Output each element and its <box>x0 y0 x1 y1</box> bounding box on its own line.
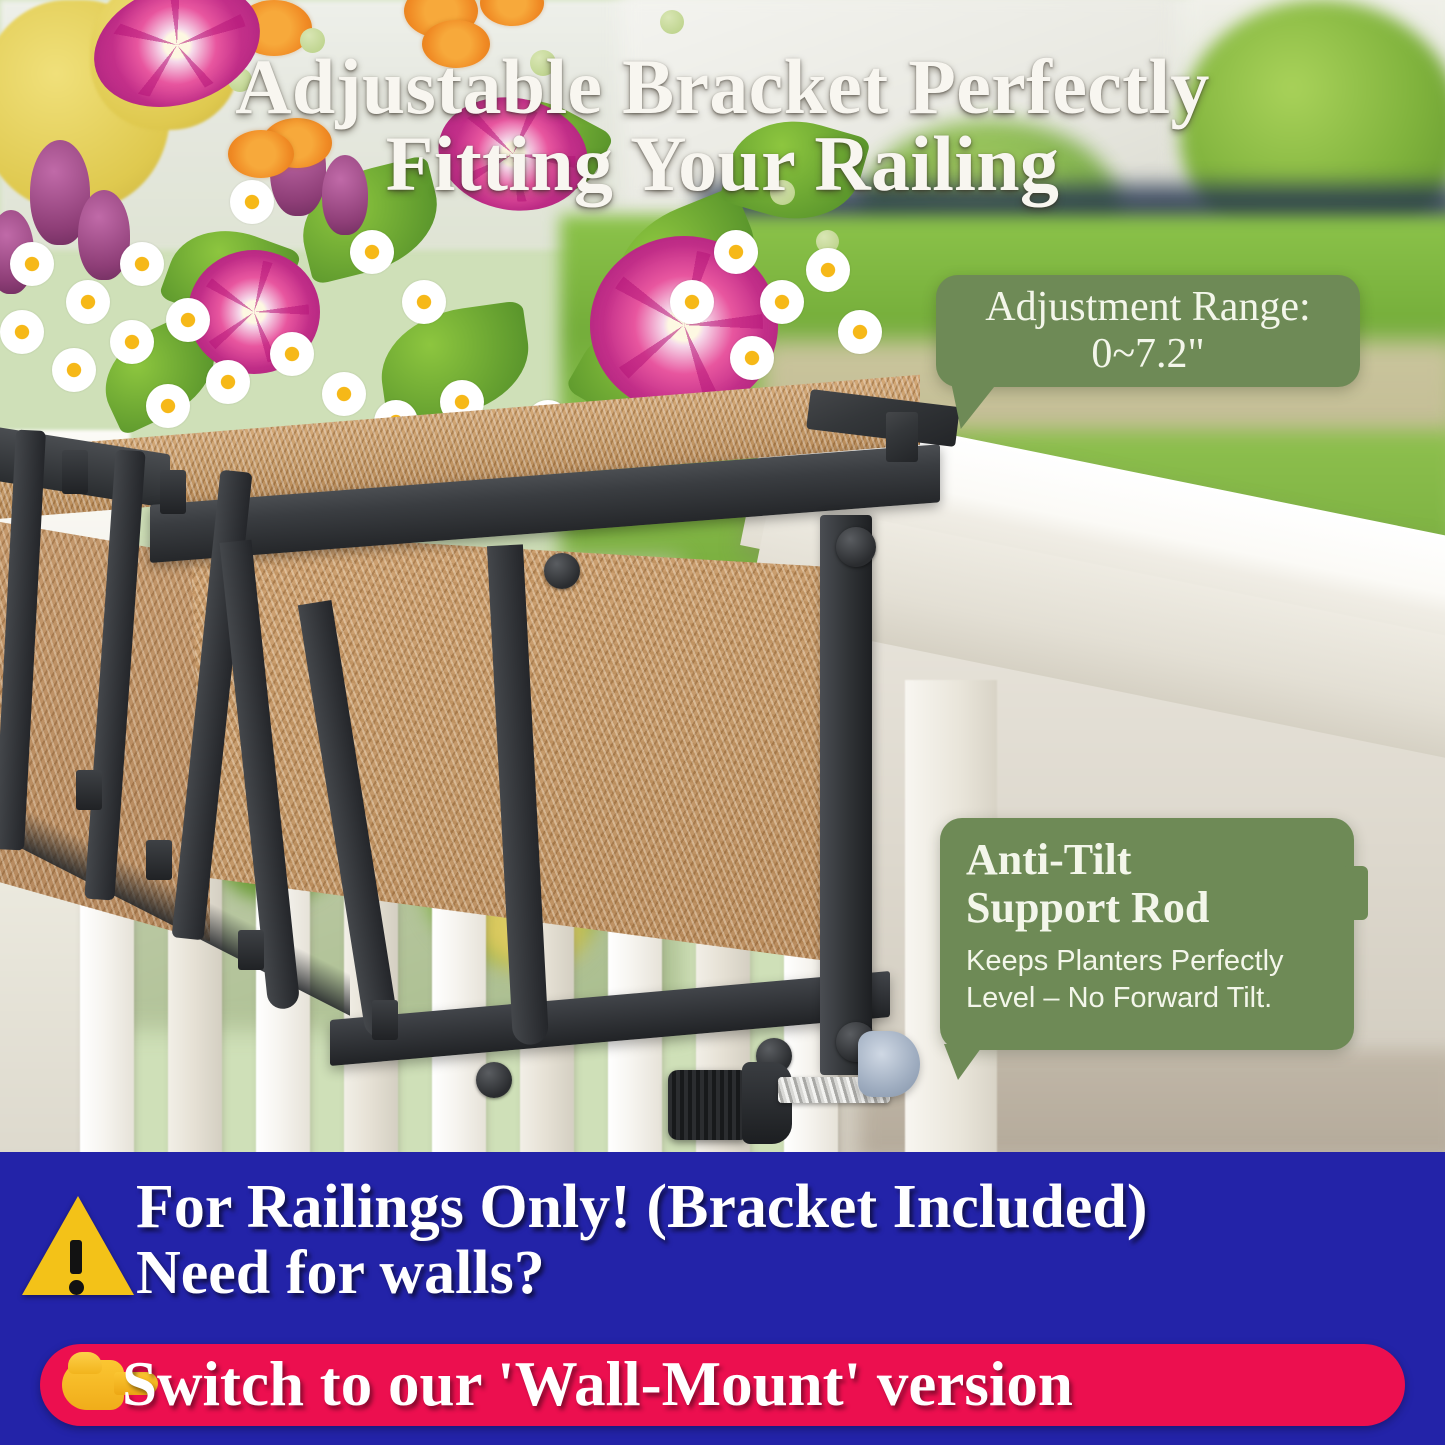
flower-daisy <box>10 242 54 286</box>
flower-daisy <box>760 280 804 324</box>
frame-hook <box>160 470 186 514</box>
callout-adjustment-range: Adjustment Range: 0~7.2" <box>936 275 1360 387</box>
flower-daisy <box>146 384 190 428</box>
flower-daisy <box>838 310 882 354</box>
warning-line-2: Need for walls? <box>136 1240 1436 1306</box>
hand-thumb <box>68 1352 102 1374</box>
frame-hook <box>62 450 88 494</box>
frame-hook <box>76 770 102 810</box>
flower-daisy <box>0 310 44 354</box>
cta-banner-text[interactable]: Switch to our 'Wall-Mount' version <box>122 1349 1412 1420</box>
callout-connector <box>1342 866 1368 920</box>
flower-daisy <box>166 298 210 342</box>
support-rod-title-line-1: Anti-Tilt <box>966 835 1131 884</box>
headline-line-1: Adjustable Bracket Perfectly <box>235 43 1209 130</box>
rivet <box>836 527 876 567</box>
warning-exclamation-dot-icon <box>69 1280 84 1295</box>
flower-bud <box>660 10 684 34</box>
flower-daisy <box>270 332 314 376</box>
adjustment-range-label: Adjustment Range: <box>985 284 1310 330</box>
callout-tail <box>945 383 997 429</box>
headline-line-2: Fitting Your Railing <box>0 125 1445 202</box>
flower-daisy <box>806 248 850 292</box>
flower-daisy <box>66 280 110 324</box>
rivet <box>544 553 580 589</box>
warning-exclamation-icon <box>70 1240 82 1274</box>
knob-cap <box>742 1062 792 1144</box>
flower-daisy <box>350 230 394 274</box>
adjustable-bracket-leg <box>886 412 918 462</box>
product-marketing-image: Adjustable Bracket Perfectly Fitting You… <box>0 0 1445 1445</box>
flower-daisy <box>110 320 154 364</box>
frame-hook <box>238 930 264 970</box>
flower-daisy <box>714 230 758 274</box>
frame-hook <box>372 1000 398 1040</box>
flower-daisy <box>670 280 714 324</box>
flower-daisy <box>52 348 96 392</box>
frame-hook <box>146 840 172 880</box>
adjustment-range-value: 0~7.2" <box>1091 331 1204 377</box>
flower-daisy <box>120 242 164 286</box>
flower-marigold <box>480 0 544 26</box>
rivet <box>476 1062 512 1098</box>
page-title: Adjustable Bracket Perfectly Fitting You… <box>0 48 1445 202</box>
warning-banner-text: For Railings Only! (Bracket Included) Ne… <box>136 1174 1436 1307</box>
flower-daisy <box>402 280 446 324</box>
callout-tail <box>944 1044 984 1080</box>
rubber-protective-tip <box>858 1031 920 1097</box>
flower-daisy <box>322 372 366 416</box>
flower-daisy <box>206 360 250 404</box>
thumb-knob <box>668 1070 750 1140</box>
support-rod-sub-line-1: Keeps Planters Perfectly <box>966 945 1284 977</box>
callout-support-rod: Anti-Tilt Support Rod Keeps Planters Per… <box>940 818 1354 1050</box>
support-rod-title-line-2: Support Rod <box>966 883 1209 932</box>
frame-corner-post <box>820 515 872 1075</box>
flower-daisy <box>730 336 774 380</box>
warning-line-1: For Railings Only! (Bracket Included) <box>136 1173 1148 1241</box>
support-rod-sub-line-2: Level – No Forward Tilt. <box>966 982 1272 1014</box>
